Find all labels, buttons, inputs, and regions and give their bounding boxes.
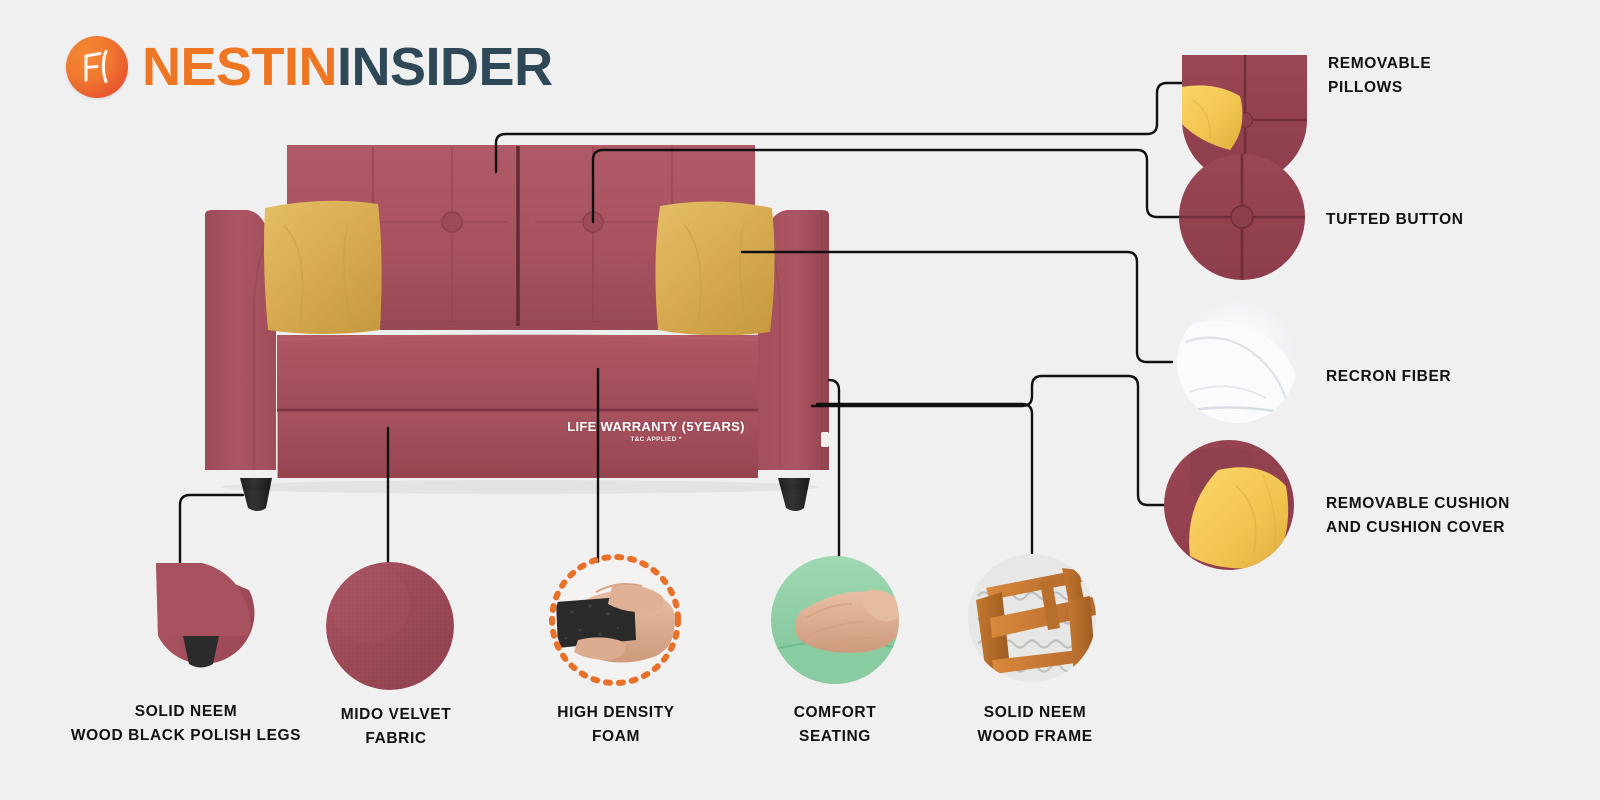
label-solid-neem-legs: SOLID NEEM WOOD BLACK POLISH LEGS <box>71 700 301 748</box>
label-mido-velvet-fabric: MIDO VELVET FABRIC <box>341 703 452 751</box>
bottom-thumbnails <box>0 0 1600 800</box>
thumb-comfort-seating <box>771 556 902 684</box>
thumb-solid-neem-legs <box>156 563 254 668</box>
label-high-density-foam: HIGH DENSITY FOAM <box>557 701 674 749</box>
thumb-solid-neem-frame <box>968 554 1100 682</box>
label-solid-neem-frame: SOLID NEEM WOOD FRAME <box>977 701 1092 749</box>
label-comfort-seating: COMFORT SEATING <box>794 701 877 749</box>
thumb-mido-velvet-fabric <box>326 562 454 690</box>
infographic-canvas: NESTININSIDER <box>0 0 1600 800</box>
thumb-high-density-foam <box>552 557 678 683</box>
